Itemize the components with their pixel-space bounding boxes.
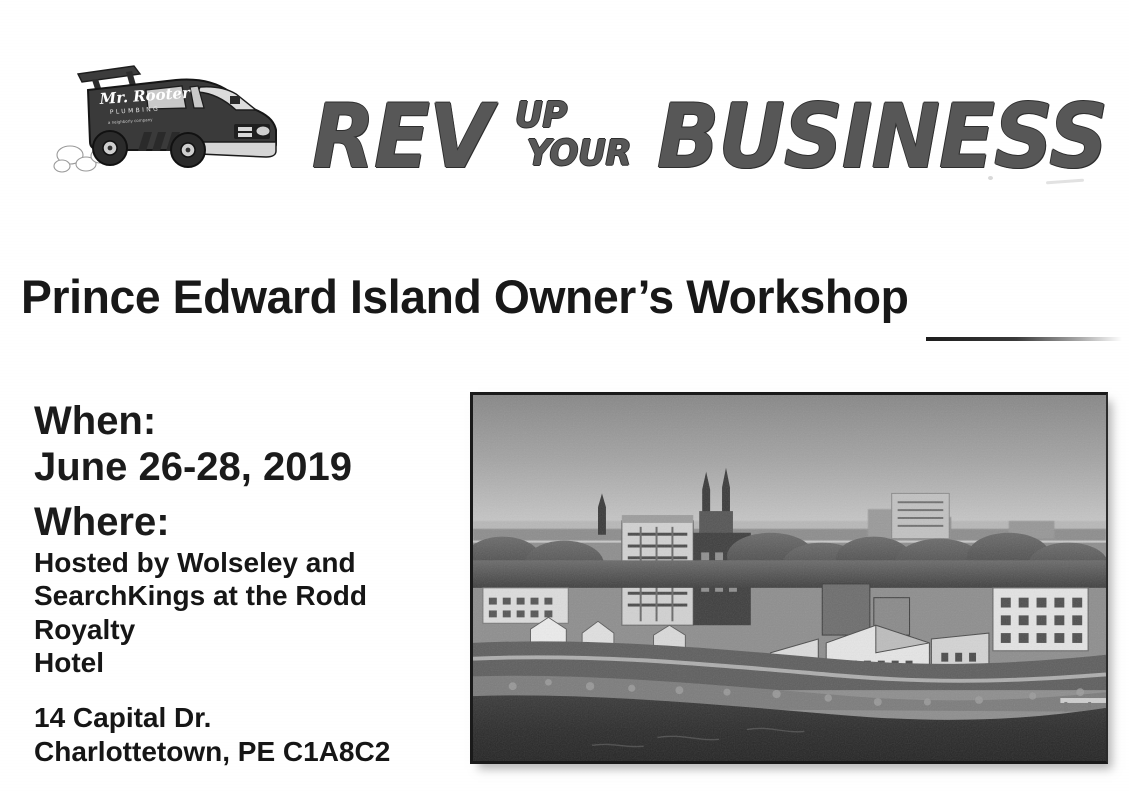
where-group: Where: Hosted by Wolseley and SearchKing… [34,499,464,680]
venue-line-3: Hotel [34,646,466,679]
page-title: Prince Edward Island Owner’s Workshop [21,272,909,322]
when-value: June 26-28, 2019 [34,444,464,490]
event-details-column: When: June 26-28, 2019 Where: Hosted by … [34,398,464,791]
venue-lines: Hosted by Wolseley and SearchKings at th… [34,546,466,679]
wordmark-word-your: YOUR [515,135,631,172]
venue-line-2: SearchKings at the Rodd Royalty [34,579,466,646]
when-group: When: June 26-28, 2019 [34,398,464,491]
flyer-banner: Mr. Rooter PLUMBING a neighborly company [0,0,1129,210]
address-line-2: Charlottetown, PE C1A8C2 [34,735,464,768]
flyer-page: Mr. Rooter PLUMBING a neighborly company [0,0,1129,791]
wordmark-word-up: UP [515,97,567,134]
wordmark-word-rev: REV [312,97,491,178]
charlottetown-waterfront-aerial-photo [470,392,1108,764]
address-group: 14 Capital Dr. Charlottetown, PE C1A8C2 [34,701,464,768]
scan-artifact-speck [988,176,993,180]
where-label: Where: [34,499,464,545]
venue-line-1: Hosted by Wolseley and [34,546,466,579]
wordmark-word-business: BUSINESS [657,97,1107,178]
when-label: When: [34,398,464,444]
title-divider-rule [926,337,1122,341]
rev-up-your-business-wordmark: REV UP YOUR BUSINESS [312,68,1129,178]
wordmark-stack: UP YOUR [515,97,637,178]
address-line-1: 14 Capital Dr. [34,701,464,734]
mr-rooter-van-illustration: Mr. Rooter PLUMBING a neighborly company [48,52,288,177]
